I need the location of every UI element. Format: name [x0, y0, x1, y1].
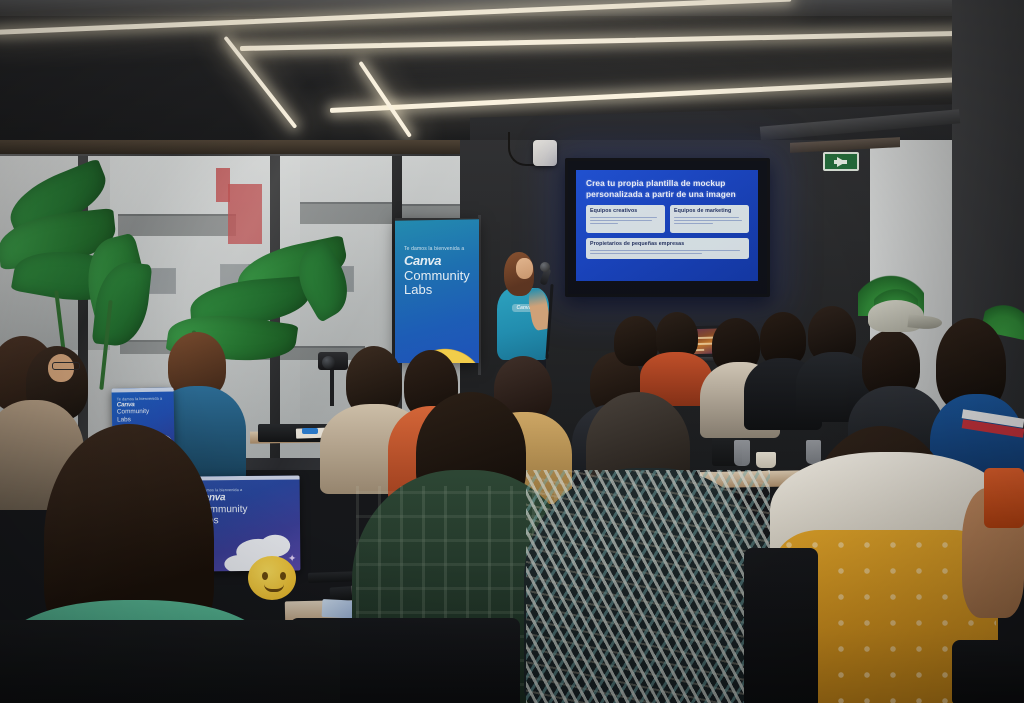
orange-item	[984, 468, 1024, 528]
foreground-dark-surface	[0, 620, 340, 703]
slide-card: Equipos de marketing	[670, 205, 749, 233]
banner-welcome-text: Te damos la bienvenida a	[404, 246, 464, 252]
cup	[806, 440, 821, 464]
sign-brand-line-2: Community	[117, 408, 149, 416]
slide-card-body	[674, 217, 745, 224]
slide-title-line-1: Crea tu propia plantilla de mockup	[586, 178, 725, 188]
slide-card-title: Equipos creativos	[590, 208, 661, 215]
event-banner: Te damos la bienvenida a Canva Community…	[395, 218, 479, 363]
red-awning	[228, 184, 262, 244]
slide-card-row: Equipos creativos Equipos de marketing	[586, 205, 749, 233]
slide-card-title: Propietarios de pequeñas empresas	[590, 241, 745, 248]
exit-sign	[823, 152, 859, 171]
napkin	[756, 452, 776, 468]
ceiling-led-strip	[240, 29, 1024, 51]
balcony	[118, 214, 236, 236]
presenter-face	[516, 258, 533, 279]
chair	[744, 548, 818, 703]
slide: Crea tu propia plantilla de mockup perso…	[576, 170, 758, 281]
smiley-eye	[280, 572, 286, 580]
sticker	[302, 428, 318, 434]
smiley-plush	[248, 556, 296, 600]
wall-speaker	[533, 140, 557, 166]
red-awning	[216, 168, 230, 202]
banner-brand-line-3: Labs	[404, 282, 432, 297]
palm-print-pattern	[526, 470, 770, 703]
cup	[734, 440, 750, 466]
banner-brand-line-1: Canva	[404, 253, 441, 268]
event-photo-scene: Crea tu propia plantilla de mockup perso…	[0, 0, 1024, 703]
presentation-display[interactable]: Crea tu propia plantilla de mockup perso…	[565, 158, 770, 297]
camera-lens-icon	[322, 356, 335, 369]
smiley-eye	[262, 572, 268, 580]
exit-arrow-right-icon	[837, 157, 846, 167]
sign-brand-line-1: Canva	[117, 401, 135, 408]
tripod	[330, 370, 334, 406]
balcony	[300, 202, 400, 224]
slide-card-body	[590, 250, 745, 254]
chair	[952, 640, 1024, 703]
slide-title: Crea tu propia plantilla de mockup perso…	[586, 178, 749, 199]
sign-brand-line-3: Labs	[117, 416, 131, 423]
banner-brand-line-2: Community	[404, 268, 470, 283]
slide-card-body	[590, 217, 661, 224]
slide-title-line-2: personalizada a partir de una imagen	[586, 189, 736, 199]
slide-card-title: Equipos de marketing	[674, 208, 745, 215]
glasses-icon	[52, 362, 80, 370]
banner-brand: Canva Community Labs	[404, 254, 470, 298]
sign-brand: Canva Community Labs	[117, 401, 163, 424]
ceiling-led-strip	[358, 61, 412, 138]
banner-top-rail	[395, 218, 479, 221]
slide-card: Propietarios de pequeñas empresas	[586, 238, 749, 259]
microphone-icon	[540, 262, 550, 272]
slide-card: Equipos creativos	[586, 205, 665, 233]
window-header-beam	[0, 140, 470, 154]
